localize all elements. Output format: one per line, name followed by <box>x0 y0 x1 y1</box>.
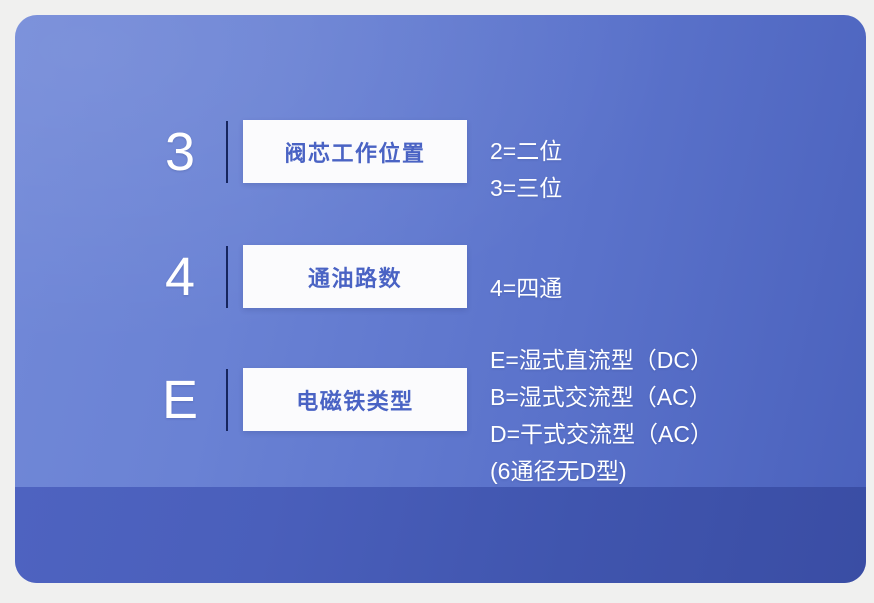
label-plate-1: 阀芯工作位置 <box>243 120 467 183</box>
description-3: E=湿式直流型（DC） B=湿式交流型（AC） D=干式交流型（AC） (6通径… <box>490 342 713 490</box>
description-2: 4=四通 <box>490 270 562 307</box>
label-plate-text-1: 阀芯工作位置 <box>284 136 425 168</box>
row-divider-2 <box>226 246 228 308</box>
code-glyph-1: 3 <box>150 125 210 179</box>
spec-card: 3 阀芯工作位置 2=二位 3=三位 4 通油路数 4=四通 E 电磁铁类型 E… <box>15 15 866 583</box>
row-divider-3 <box>226 369 228 431</box>
label-plate-2: 通油路数 <box>243 245 467 308</box>
card-bottom-band <box>15 487 866 583</box>
spec-row-2: 4 通油路数 <box>150 245 467 308</box>
label-plate-text-2: 通油路数 <box>308 261 402 293</box>
description-1: 2=二位 3=三位 <box>490 133 562 207</box>
spec-row-1: 3 阀芯工作位置 <box>150 120 467 183</box>
spec-row-3: E 电磁铁类型 <box>150 368 467 431</box>
label-plate-text-3: 电磁铁类型 <box>296 384 414 416</box>
code-glyph-2: 4 <box>150 250 210 304</box>
label-plate-3: 电磁铁类型 <box>243 368 467 431</box>
code-glyph-3: E <box>150 373 210 427</box>
row-divider-1 <box>226 121 228 183</box>
